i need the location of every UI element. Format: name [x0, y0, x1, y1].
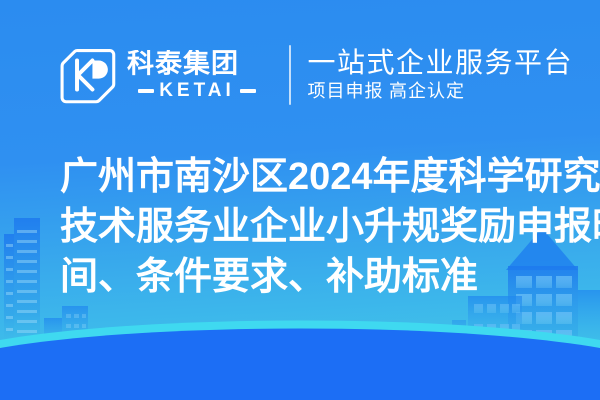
logo-company-en-row: KETAI: [138, 81, 256, 100]
title-line-3: 间、条件要求、补助标准: [60, 252, 580, 302]
logo-dash-right: [240, 89, 256, 93]
building-far-right: [452, 320, 466, 358]
building-left-tower: [4, 218, 40, 354]
tagline-block: 一站式企业服务平台 项目申报 高企认定: [308, 48, 574, 102]
header-divider: [289, 45, 291, 105]
tagline-main: 一站式企业服务平台: [308, 48, 574, 78]
company-logo[interactable]: 科泰集团 KETAI: [58, 46, 267, 104]
logo-dash-left: [138, 89, 154, 93]
logo-wordmark: 科泰集团 KETAI: [127, 50, 267, 100]
bottom-wave-shape: [0, 310, 600, 400]
logo-company-cn: 科泰集团: [127, 50, 267, 78]
title-line-1: 广州市南沙区2024年度科学研究和: [60, 152, 580, 202]
building-left-small: [44, 306, 88, 356]
title-line-2: 技术服务业企业小升规奖励申报时: [60, 202, 580, 252]
tagline-sub: 项目申报 高企认定: [308, 82, 574, 102]
ketai-monogram-icon: [58, 46, 116, 104]
promo-banner: 科泰集团 KETAI 一站式企业服务平台 项目申报 高企认定 广州市南沙区202…: [0, 0, 600, 400]
page-title: 广州市南沙区2024年度科学研究和 技术服务业企业小升规奖励申报时 间、条件要求…: [60, 152, 580, 302]
svg-text:科泰集团: 科泰集团: [127, 50, 239, 78]
logo-company-en: KETAI: [159, 81, 235, 100]
banner-header: 科泰集团 KETAI 一站式企业服务平台 项目申报 高企认定: [0, 0, 600, 150]
building-right-low: [468, 296, 522, 358]
